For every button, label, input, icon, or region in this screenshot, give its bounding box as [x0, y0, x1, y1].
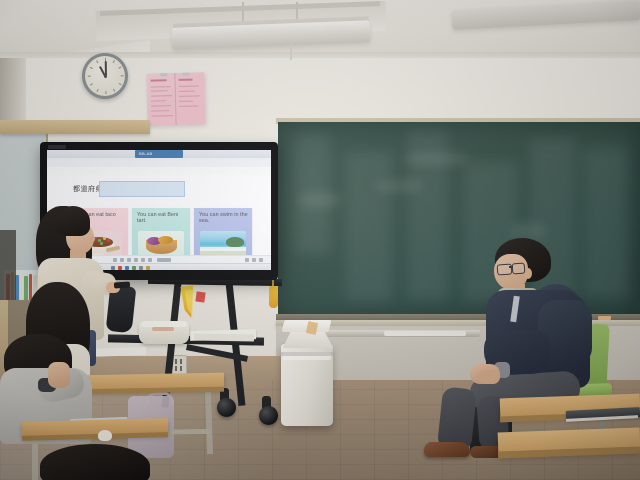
- display-brand-badge: [48, 145, 66, 149]
- clock-face: [85, 56, 125, 96]
- beach-image: [200, 231, 246, 257]
- pink-handout-poster: [146, 72, 205, 125]
- foreground-student-head: [40, 444, 150, 480]
- seated-man-shoe: [424, 442, 470, 457]
- presenter-bangs: [56, 206, 90, 236]
- eyeglasses-bridge: [509, 266, 513, 268]
- beni-tart-image: [138, 231, 184, 257]
- slide-answer-input[interactable]: [99, 181, 185, 197]
- paper-tray-label: [152, 327, 174, 331]
- cabinet-top: [0, 120, 150, 134]
- chalk-piece: [598, 316, 611, 320]
- wall-clock: [82, 53, 128, 99]
- trash-can-band: [281, 352, 333, 356]
- seated-man-fingers: [478, 370, 500, 384]
- presenter-nose: [90, 236, 95, 242]
- clock-center-pin: [104, 75, 107, 78]
- slide-card-sea[interactable]: You can swim in the sea.: [194, 208, 252, 260]
- papers-on-shelf: [194, 333, 254, 341]
- slide-card-text: You can eat Beni tart.: [137, 212, 187, 225]
- app-badge-label: BB-AB: [139, 151, 153, 156]
- boy-hand: [48, 362, 70, 388]
- cabinet-side-shadow: [0, 230, 16, 310]
- poster-fold: [174, 73, 176, 125]
- stand-caster-wheel[interactable]: [217, 398, 236, 417]
- poster-clip: [182, 72, 189, 76]
- slide-card-beni-tart[interactable]: You can eat Beni tart.: [132, 208, 190, 260]
- seated-man-ear: [524, 268, 532, 279]
- hanging-yellow-tag: [269, 286, 278, 308]
- chalkboard: [278, 122, 640, 320]
- wall-rail-highlight: [384, 331, 466, 336]
- classroom-photo-scene: BB-AB 都道府県 You can eat taco rice.: [0, 0, 640, 480]
- red-sticky-note: [195, 291, 205, 302]
- small-white-object: [98, 430, 112, 441]
- desk-leg: [32, 438, 38, 480]
- clock-minute-hand: [104, 61, 106, 76]
- light-pull-cord: [290, 44, 292, 60]
- stand-caster-wheel[interactable]: [259, 406, 278, 425]
- poster-clip: [160, 72, 167, 76]
- presentation-remote[interactable]: [114, 281, 130, 288]
- slide-card-text: You can swim in the sea.: [199, 212, 249, 225]
- eyeglasses-lens: [512, 263, 526, 275]
